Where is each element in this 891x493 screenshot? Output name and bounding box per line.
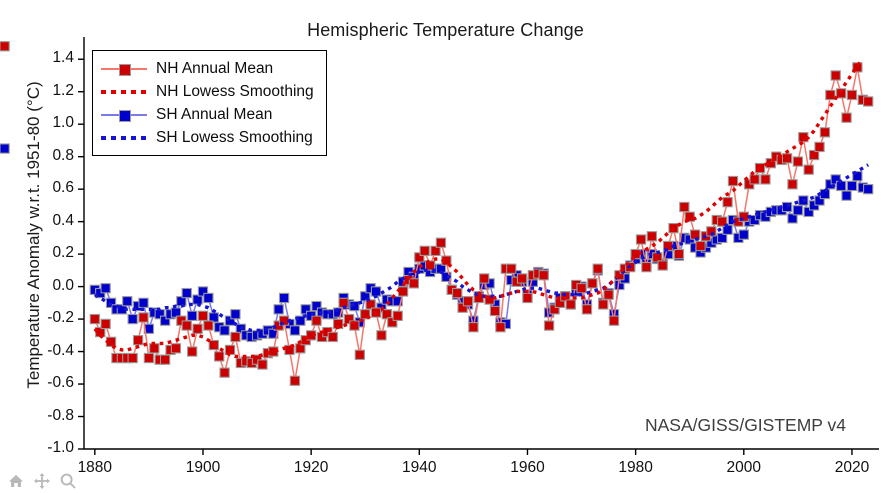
y-tick-label: 0.6 bbox=[20, 179, 74, 197]
x-tick-label: 1920 bbox=[276, 459, 346, 477]
navigation-toolbar bbox=[6, 469, 78, 493]
x-tick-label: 1980 bbox=[601, 459, 671, 477]
x-tick-label: 2020 bbox=[817, 459, 887, 477]
legend-item-nh-annual[interactable]: NH Annual Mean bbox=[101, 57, 314, 80]
legend-item-sh-lowess[interactable]: SH Lowess Smoothing bbox=[101, 126, 314, 149]
y-tick-label: 0.4 bbox=[20, 212, 74, 230]
x-tick-label: 1940 bbox=[384, 459, 454, 477]
x-tick-label: 1900 bbox=[168, 459, 238, 477]
sh-lowess-swatch bbox=[101, 131, 147, 145]
y-tick-label: -0.6 bbox=[20, 374, 74, 392]
y-tick-label: 0.8 bbox=[20, 147, 74, 165]
y-tick-label: 1.4 bbox=[20, 49, 74, 67]
nh-lowess-swatch bbox=[101, 85, 147, 99]
attribution-text: NASA/GISS/GISTEMP v4 bbox=[645, 415, 846, 436]
figure-canvas: Hemispheric Temperature Change Temperatu… bbox=[0, 0, 891, 493]
pan-icon[interactable] bbox=[32, 471, 52, 491]
home-icon[interactable] bbox=[6, 471, 26, 491]
legend: NH Annual Mean NH Lowess Smoothing SH An… bbox=[92, 50, 327, 156]
y-tick-label: -1.0 bbox=[20, 439, 74, 457]
legend-label-sh-annual: SH Annual Mean bbox=[156, 106, 272, 124]
legend-label-nh-annual: NH Annual Mean bbox=[156, 60, 273, 78]
nh-annual-swatch bbox=[101, 62, 147, 76]
x-tick-label: 2000 bbox=[709, 459, 779, 477]
x-tick-label: 1960 bbox=[492, 459, 562, 477]
legend-label-sh-lowess: SH Lowess Smoothing bbox=[156, 129, 313, 147]
y-tick-label: 1.0 bbox=[20, 114, 74, 132]
y-tick-label: 1.2 bbox=[20, 82, 74, 100]
zoom-icon[interactable] bbox=[58, 471, 78, 491]
y-tick-label: -0.2 bbox=[20, 309, 74, 327]
y-tick-label: 0.2 bbox=[20, 244, 74, 262]
sh-annual-swatch bbox=[101, 108, 147, 122]
y-tick-label: -0.4 bbox=[20, 342, 74, 360]
legend-item-nh-lowess[interactable]: NH Lowess Smoothing bbox=[101, 80, 314, 103]
legend-label-nh-lowess: NH Lowess Smoothing bbox=[156, 83, 314, 101]
y-tick-label: 0.0 bbox=[20, 277, 74, 295]
legend-item-sh-annual[interactable]: SH Annual Mean bbox=[101, 103, 314, 126]
y-tick-label: -0.8 bbox=[20, 407, 74, 425]
